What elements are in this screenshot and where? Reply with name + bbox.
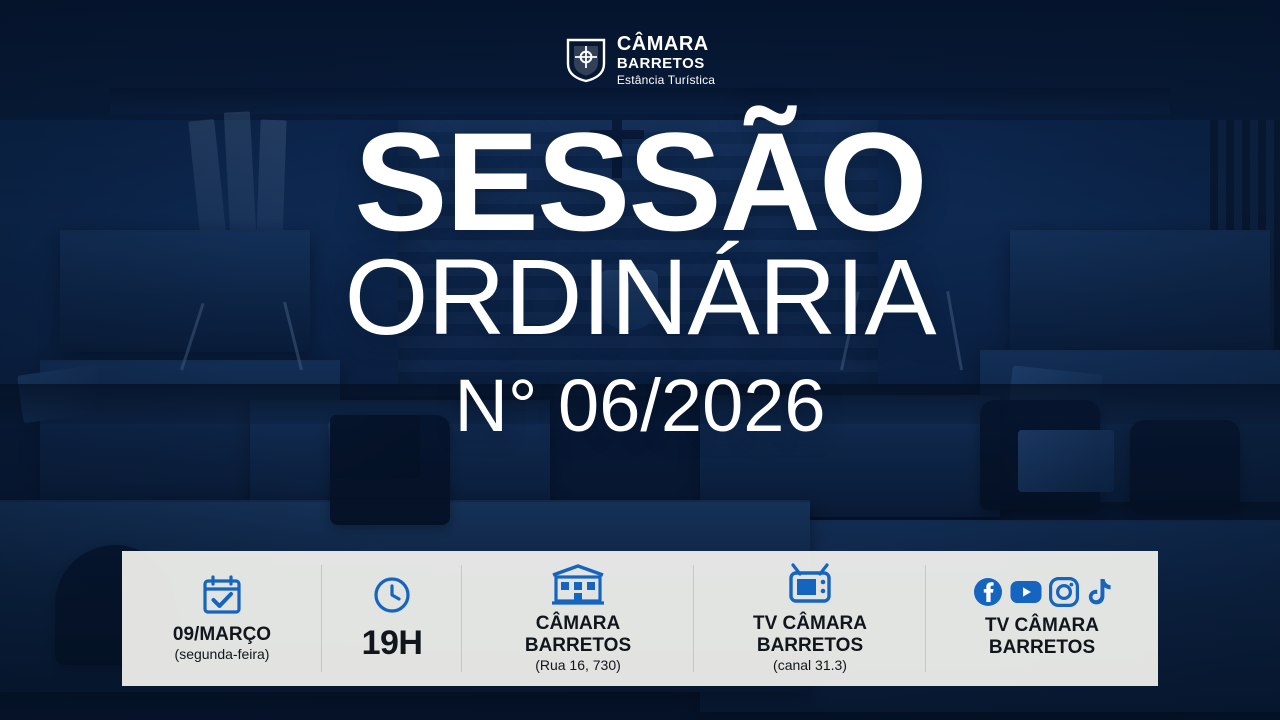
info-bar: 09/MARÇO (segunda-feira) 19H — [122, 551, 1158, 686]
info-date-primary: 09/MARÇO — [173, 624, 271, 645]
instagram-icon[interactable] — [1049, 577, 1079, 607]
info-time-primary: 19H — [362, 624, 423, 662]
social-icons-row — [973, 577, 1112, 607]
clock-icon — [372, 572, 412, 618]
tiktok-icon[interactable] — [1086, 577, 1112, 607]
info-cell-social: TV CÂMARA BARRETOS — [926, 551, 1158, 686]
session-announcement-poster: CÂMARA BARRETOS Estância Turística SESSÃ… — [0, 0, 1280, 720]
info-tv-primary: TV CÂMARA — [753, 613, 867, 634]
brand-line-2: BARRETOS — [617, 56, 715, 71]
brand-line-1: CÂMARA — [617, 34, 715, 54]
coat-of-arms-icon — [565, 37, 607, 83]
headline-main: SESSÃO — [0, 118, 1280, 247]
info-place-address: (Rua 16, 730) — [535, 657, 621, 674]
youtube-icon[interactable] — [1010, 579, 1042, 605]
info-date-secondary: (segunda-feira) — [175, 646, 270, 663]
headline-block: SESSÃO ORDINÁRIA N° 06/2026 — [0, 118, 1280, 443]
info-tv-channel: (canal 31.3) — [773, 657, 847, 674]
calendar-check-icon — [200, 572, 244, 618]
info-place-secondary: BARRETOS — [525, 635, 631, 656]
info-cell-time: 19H — [322, 551, 462, 686]
headline-sub: ORDINÁRIA — [0, 243, 1280, 351]
info-social-primary: TV CÂMARA — [985, 615, 1099, 636]
brand-logo: CÂMARA BARRETOS Estância Turística — [0, 34, 1280, 86]
facebook-icon[interactable] — [973, 577, 1003, 607]
info-tv-secondary: BARRETOS — [757, 635, 863, 656]
building-icon — [550, 561, 606, 607]
headline-number: N° 06/2026 — [0, 369, 1280, 443]
info-cell-tv: TV CÂMARA BARRETOS (canal 31.3) — [694, 551, 926, 686]
brand-line-3: Estância Turística — [617, 74, 715, 86]
info-cell-place: CÂMARA BARRETOS (Rua 16, 730) — [462, 551, 694, 686]
info-cell-date: 09/MARÇO (segunda-feira) — [122, 551, 322, 686]
info-place-primary: CÂMARA — [536, 613, 620, 634]
television-icon — [784, 561, 836, 607]
info-social-secondary: BARRETOS — [989, 637, 1095, 658]
